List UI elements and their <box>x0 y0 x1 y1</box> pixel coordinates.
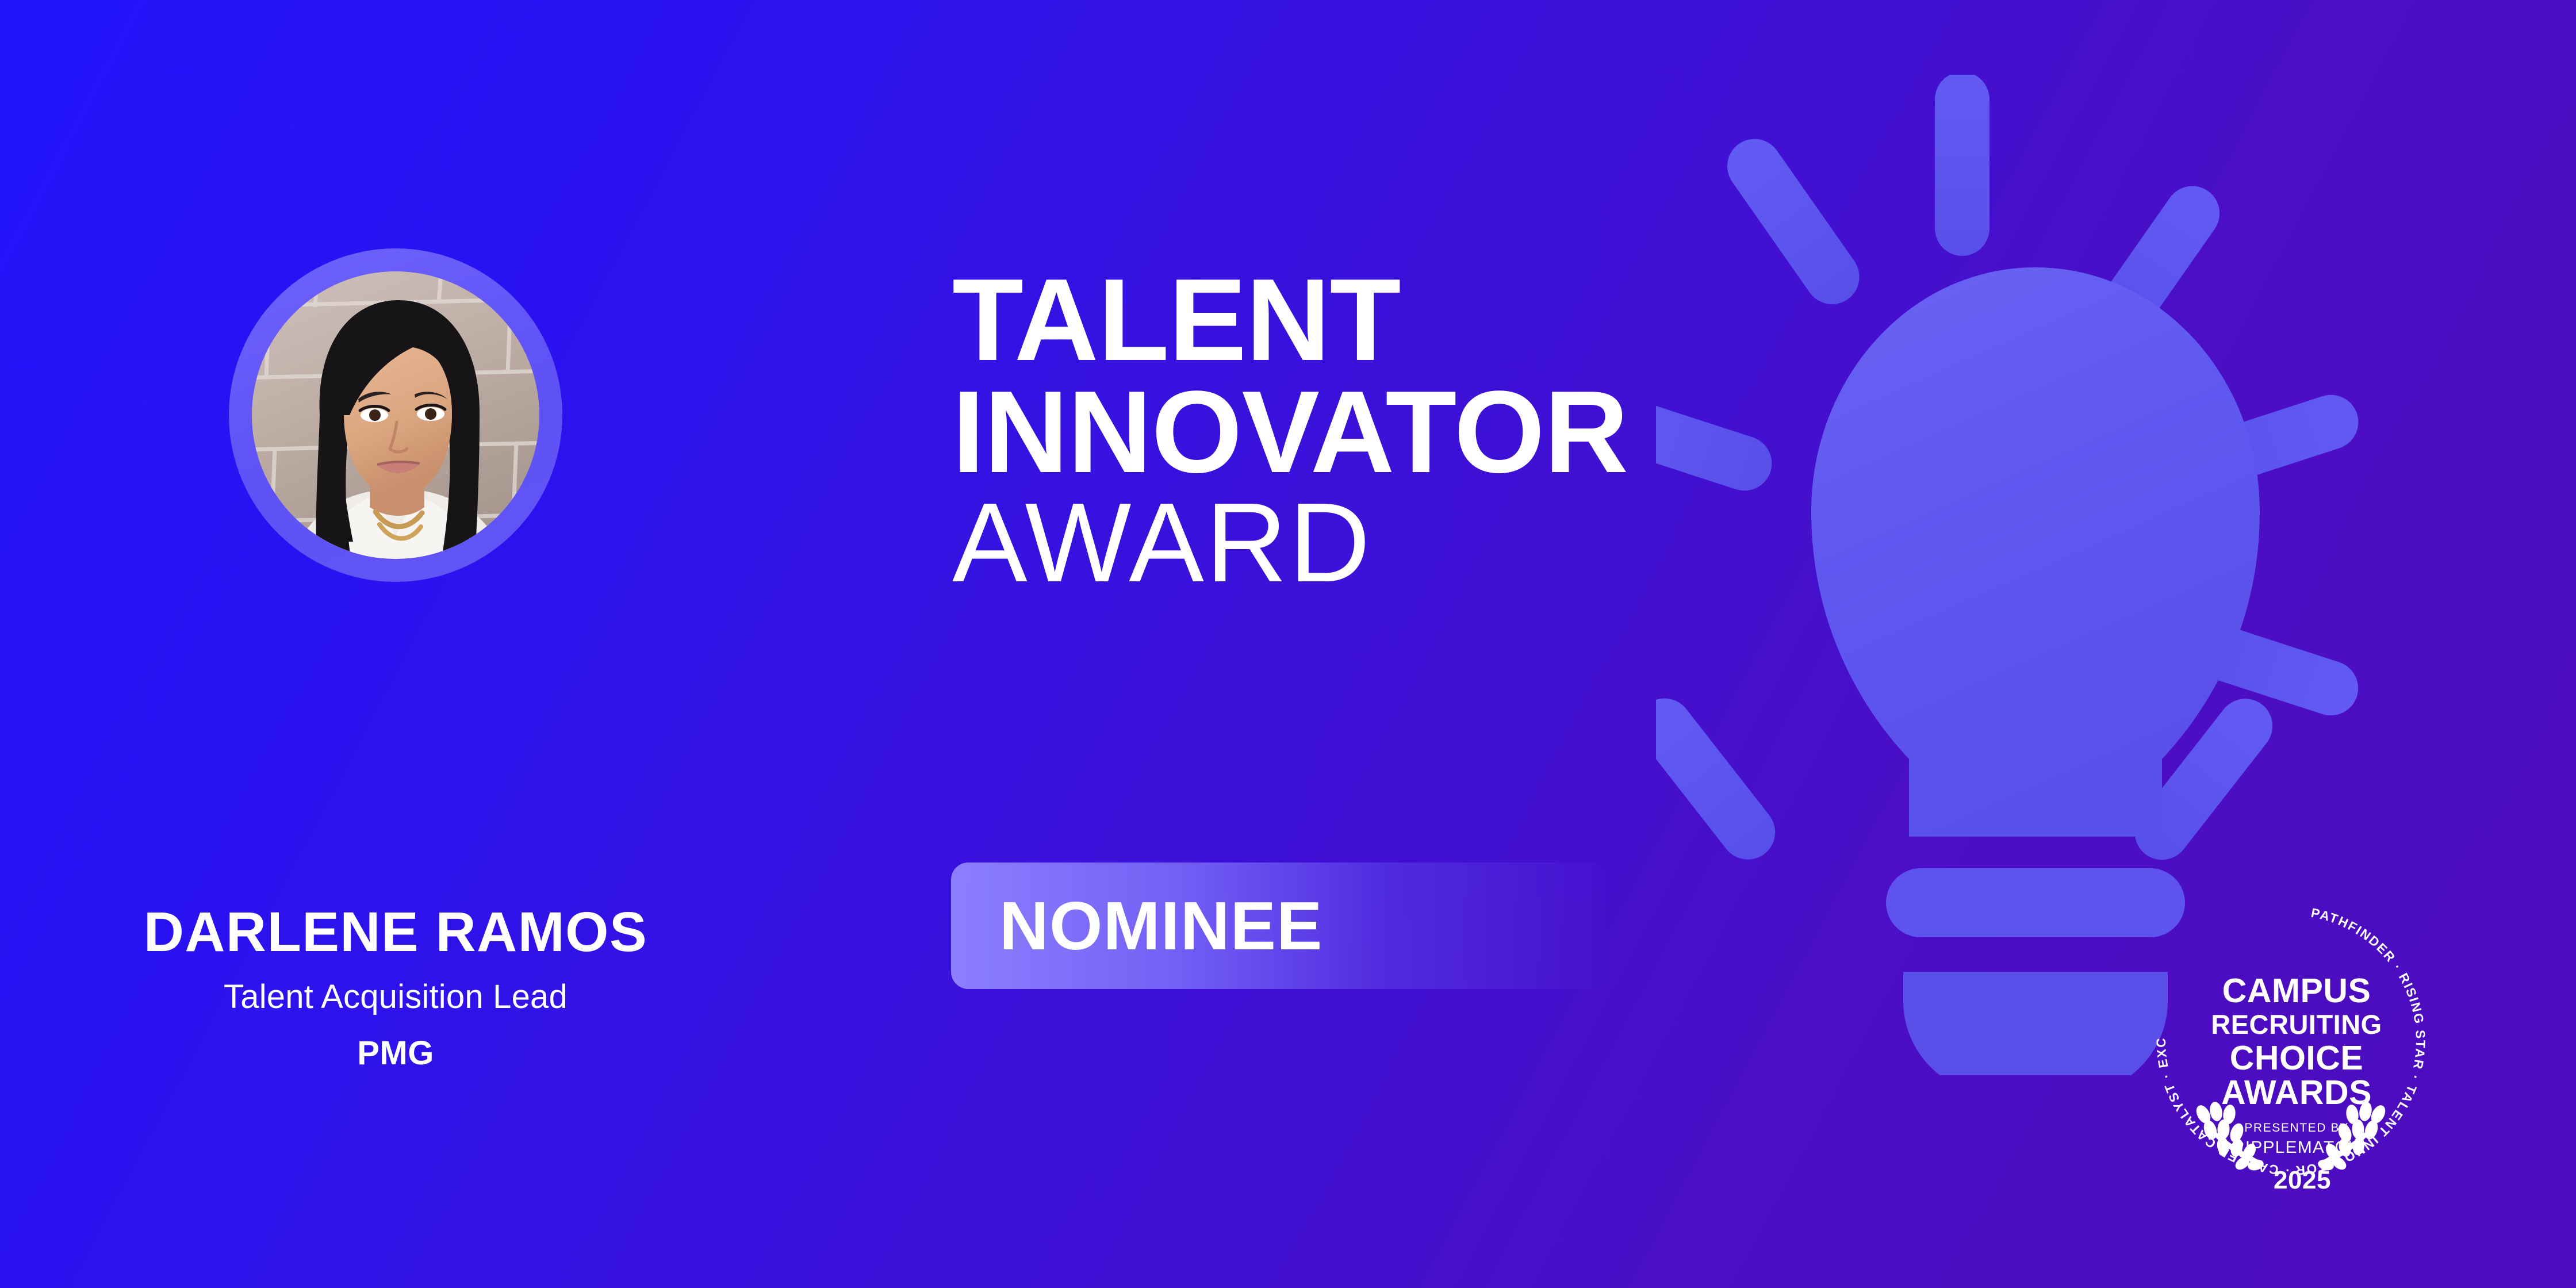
avatar <box>229 248 562 582</box>
campus-recruiting-choice-awards-seal: PATHFINDER · RISING STAR · TALENT INNOVA… <box>2136 885 2446 1196</box>
award-title-line-3: AWARD <box>952 489 1628 597</box>
status-badge-label: NOMINEE <box>999 887 1322 965</box>
award-title-line-2: INNOVATOR <box>952 377 1628 489</box>
award-title-line-1: TALENT <box>952 264 1628 377</box>
laurel-wreath-icon <box>2194 1101 2389 1172</box>
award-title: TALENT INNOVATOR AWARD <box>952 264 1628 597</box>
seal-year: 2025 <box>2274 1166 2331 1194</box>
seal-title-line-3: CHOICE <box>2230 1039 2363 1077</box>
bulb-base <box>1903 972 2168 1075</box>
status-badge: NOMINEE <box>951 862 1607 989</box>
award-graphic-canvas: DARLENE RAMOS Talent Acquisition Lead PM… <box>0 0 2576 1288</box>
headshot-photo <box>252 271 539 559</box>
person-name: DARLENE RAMOS <box>33 903 758 961</box>
nominee-details: DARLENE RAMOS Talent Acquisition Lead PM… <box>33 903 758 1071</box>
person-title: Talent Acquisition Lead <box>33 979 758 1015</box>
person-org: PMG <box>33 1035 758 1072</box>
seal-title-line-2: RECRUITING <box>2211 1009 2382 1040</box>
seal-presented-by-label: PRESENTED BY <box>2244 1121 2348 1134</box>
seal-title-line-1: CAMPUS <box>2222 972 2371 1010</box>
